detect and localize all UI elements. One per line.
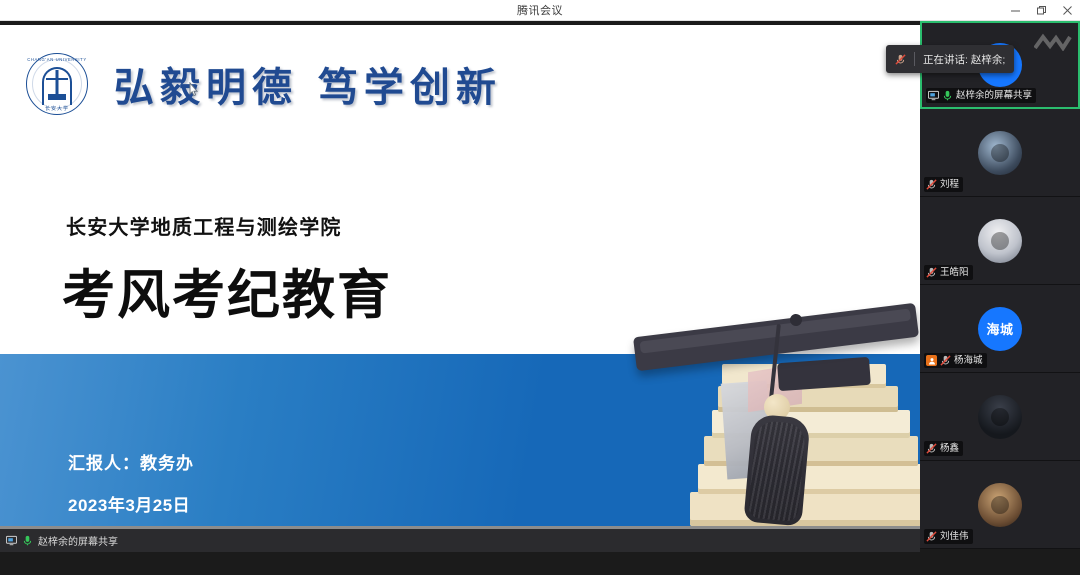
participant-name: 刘佳伟: [940, 529, 969, 544]
slide-subtitle: 长安大学地质工程与测绘学院: [66, 211, 342, 240]
window-title: 腾讯会议: [517, 2, 563, 18]
screen-share-icon: [6, 535, 17, 546]
mic-on-icon: [942, 90, 953, 101]
slide-date: 2023年3月25日: [68, 491, 190, 516]
screen-share-icon: [928, 90, 939, 101]
mic-muted-icon: [926, 179, 937, 190]
maximize-restore-button[interactable]: [1028, 0, 1054, 21]
participant-tile-3[interactable]: 海城 杨海城: [920, 285, 1080, 373]
logo-chinese-text: 长安大学: [27, 105, 87, 112]
tooltip-divider: [914, 52, 915, 66]
tencent-meeting-window: 腾讯会议: [0, 0, 1080, 575]
tencent-meeting-watermark-icon: [1034, 33, 1072, 51]
participant-namebar-3: 杨海城: [924, 353, 987, 368]
slide-motto: 弘毅明德 笃学创新: [114, 55, 502, 113]
participant-tile-2[interactable]: 王皓阳: [920, 197, 1080, 285]
slide-main-title: 考风考纪教育: [62, 253, 392, 329]
avatar: [978, 395, 1022, 439]
mic-muted-icon: [926, 531, 937, 542]
speaking-tooltip: 正在讲话: 赵梓余;: [886, 45, 1014, 73]
participant-name: 杨鑫: [940, 441, 959, 456]
share-status-text: 赵梓余的屏幕共享: [38, 533, 118, 548]
participants-rail[interactable]: 梓余 赵梓余的屏幕共享: [920, 21, 1080, 575]
participant-name: 王皓阳: [940, 265, 969, 280]
mic-muted-icon: [895, 54, 906, 65]
participant-name: 刘程: [940, 177, 959, 192]
slide-header: CHANG'AN UNIVERSITY 长安大学 弘毅明德 笃学创新: [26, 53, 502, 115]
window-titlebar: 腾讯会议: [0, 0, 1080, 21]
avatar: [978, 131, 1022, 175]
mic-muted-icon: [926, 267, 937, 278]
participant-name: 杨海城: [954, 353, 983, 368]
mic-muted-icon: [940, 355, 951, 366]
graduation-cap: [634, 312, 918, 376]
participant-name: 赵梓余的屏幕共享: [956, 88, 1032, 103]
host-badge-icon: [926, 355, 937, 366]
shared-screen-stage[interactable]: CHANG'AN UNIVERSITY 长安大学 弘毅明德 笃学创新 长安大学地…: [0, 21, 920, 552]
mic-on-icon: [22, 535, 33, 546]
avatar-initials: 海城: [986, 319, 1013, 338]
participant-namebar-5: 刘佳伟: [924, 529, 973, 544]
tooltip-text: 正在讲话: 赵梓余;: [923, 52, 1005, 67]
graduation-cap-books-illustration: [620, 281, 920, 526]
avatar: [978, 483, 1022, 527]
slide-presenter: 汇报人：教务办: [68, 449, 194, 474]
participant-namebar-4: 杨鑫: [924, 441, 963, 456]
logo-english-text: CHANG'AN UNIVERSITY: [27, 57, 87, 62]
minimize-button[interactable]: [1002, 0, 1028, 21]
window-controls: [1002, 0, 1080, 21]
participant-namebar-2: 王皓阳: [924, 265, 973, 280]
participant-tile-1[interactable]: 刘程: [920, 109, 1080, 197]
close-button[interactable]: [1054, 0, 1080, 21]
participant-namebar-1: 刘程: [924, 177, 963, 192]
avatar: 海城: [978, 307, 1022, 351]
mic-muted-icon: [926, 443, 937, 454]
share-status-bar: 赵梓余的屏幕共享: [0, 529, 920, 552]
participant-tile-5[interactable]: 刘佳伟: [920, 461, 1080, 549]
changan-university-logo-icon: CHANG'AN UNIVERSITY 长安大学: [26, 53, 88, 115]
avatar: [978, 219, 1022, 263]
presentation-slide: CHANG'AN UNIVERSITY 长安大学 弘毅明德 笃学创新 长安大学地…: [0, 25, 920, 548]
participant-tile-4[interactable]: 杨鑫: [920, 373, 1080, 461]
participant-namebar-0: 赵梓余的屏幕共享: [926, 88, 1036, 103]
